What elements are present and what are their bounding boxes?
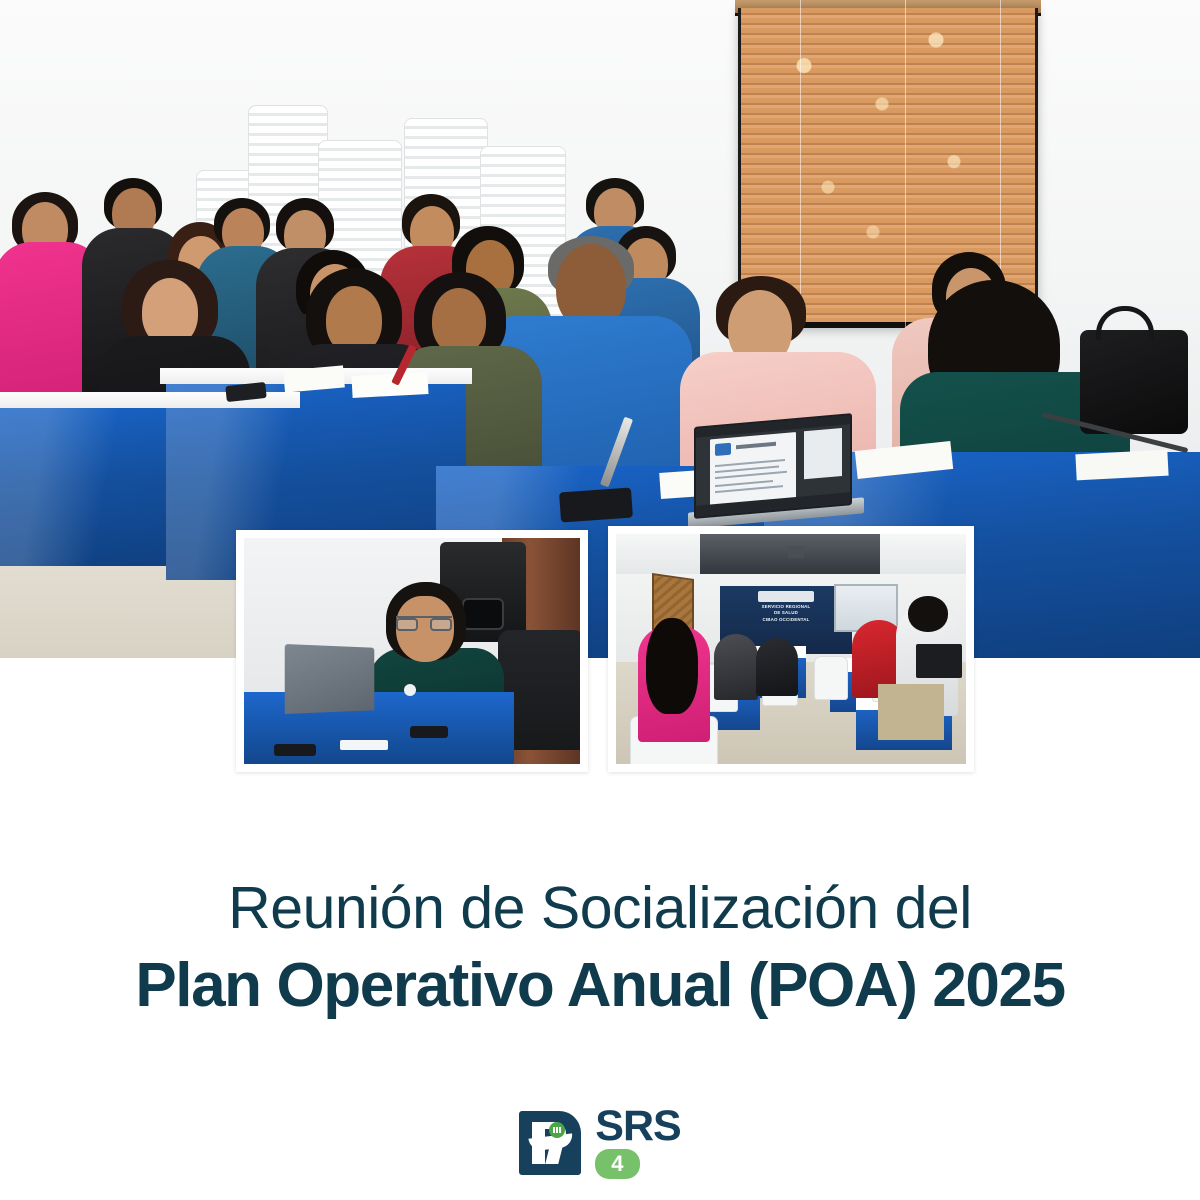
- mobile-phone: [410, 726, 448, 738]
- inset-photo-conference-room: SERVICIO REGIONAL DE SALUD CIBAO OCCIDEN…: [608, 526, 974, 772]
- title-line-2: Plan Operativo Anual (POA) 2025: [0, 948, 1200, 1024]
- eyeglasses-icon: [396, 616, 452, 629]
- banner-line-3: CIBAO OCCIDENTAL: [720, 617, 852, 623]
- room-attendee-legs: [878, 684, 944, 740]
- room-attendee-hair: [908, 596, 948, 632]
- speaker-cone: [462, 598, 504, 630]
- inset-photo-presenter-image: [244, 538, 580, 764]
- title-line-1: Reunión de Socialización del: [0, 872, 1200, 944]
- handbag: [1080, 330, 1188, 434]
- laptop-document-window: [710, 432, 796, 506]
- mobile-phone: [274, 744, 316, 756]
- logo-wordmark: SRS: [595, 1106, 680, 1146]
- poster-title: Reunión de Socialización del Plan Operat…: [0, 872, 1200, 1024]
- projector-icon: [788, 546, 804, 558]
- mobile-phone: [559, 488, 633, 523]
- logo-region-badge: 4: [595, 1149, 639, 1179]
- laptop-side-panel: [804, 428, 842, 479]
- room-attendee: [756, 638, 798, 696]
- brand-logo: SRS 4: [0, 1106, 1200, 1179]
- inset-photo-presenter: [236, 530, 588, 772]
- room-chair: [814, 656, 848, 700]
- blind-cord: [905, 0, 906, 330]
- srs-r-hand-icon: [519, 1111, 581, 1175]
- institution-banner-logo: [758, 591, 814, 602]
- hero-photo: [0, 0, 1200, 658]
- paper-sheet: [1075, 450, 1168, 481]
- room-laptop: [916, 644, 962, 678]
- paper-sheet: [351, 372, 428, 398]
- room-attendee-hair: [646, 618, 698, 714]
- laptop-screen: [694, 413, 852, 519]
- id-badge: [404, 684, 416, 696]
- institution-banner-text: SERVICIO REGIONAL DE SALUD CIBAO OCCIDEN…: [720, 604, 852, 623]
- presenter-laptop: [285, 644, 375, 714]
- green-circle-icon: [549, 1122, 565, 1138]
- room-attendee: [714, 634, 758, 700]
- poster-canvas: SERVICIO REGIONAL DE SALUD CIBAO OCCIDEN…: [0, 0, 1200, 1200]
- inset-photo-conference-room-image: SERVICIO REGIONAL DE SALUD CIBAO OCCIDEN…: [616, 534, 966, 764]
- paper-sheet: [340, 740, 388, 750]
- blind-cord: [800, 0, 801, 330]
